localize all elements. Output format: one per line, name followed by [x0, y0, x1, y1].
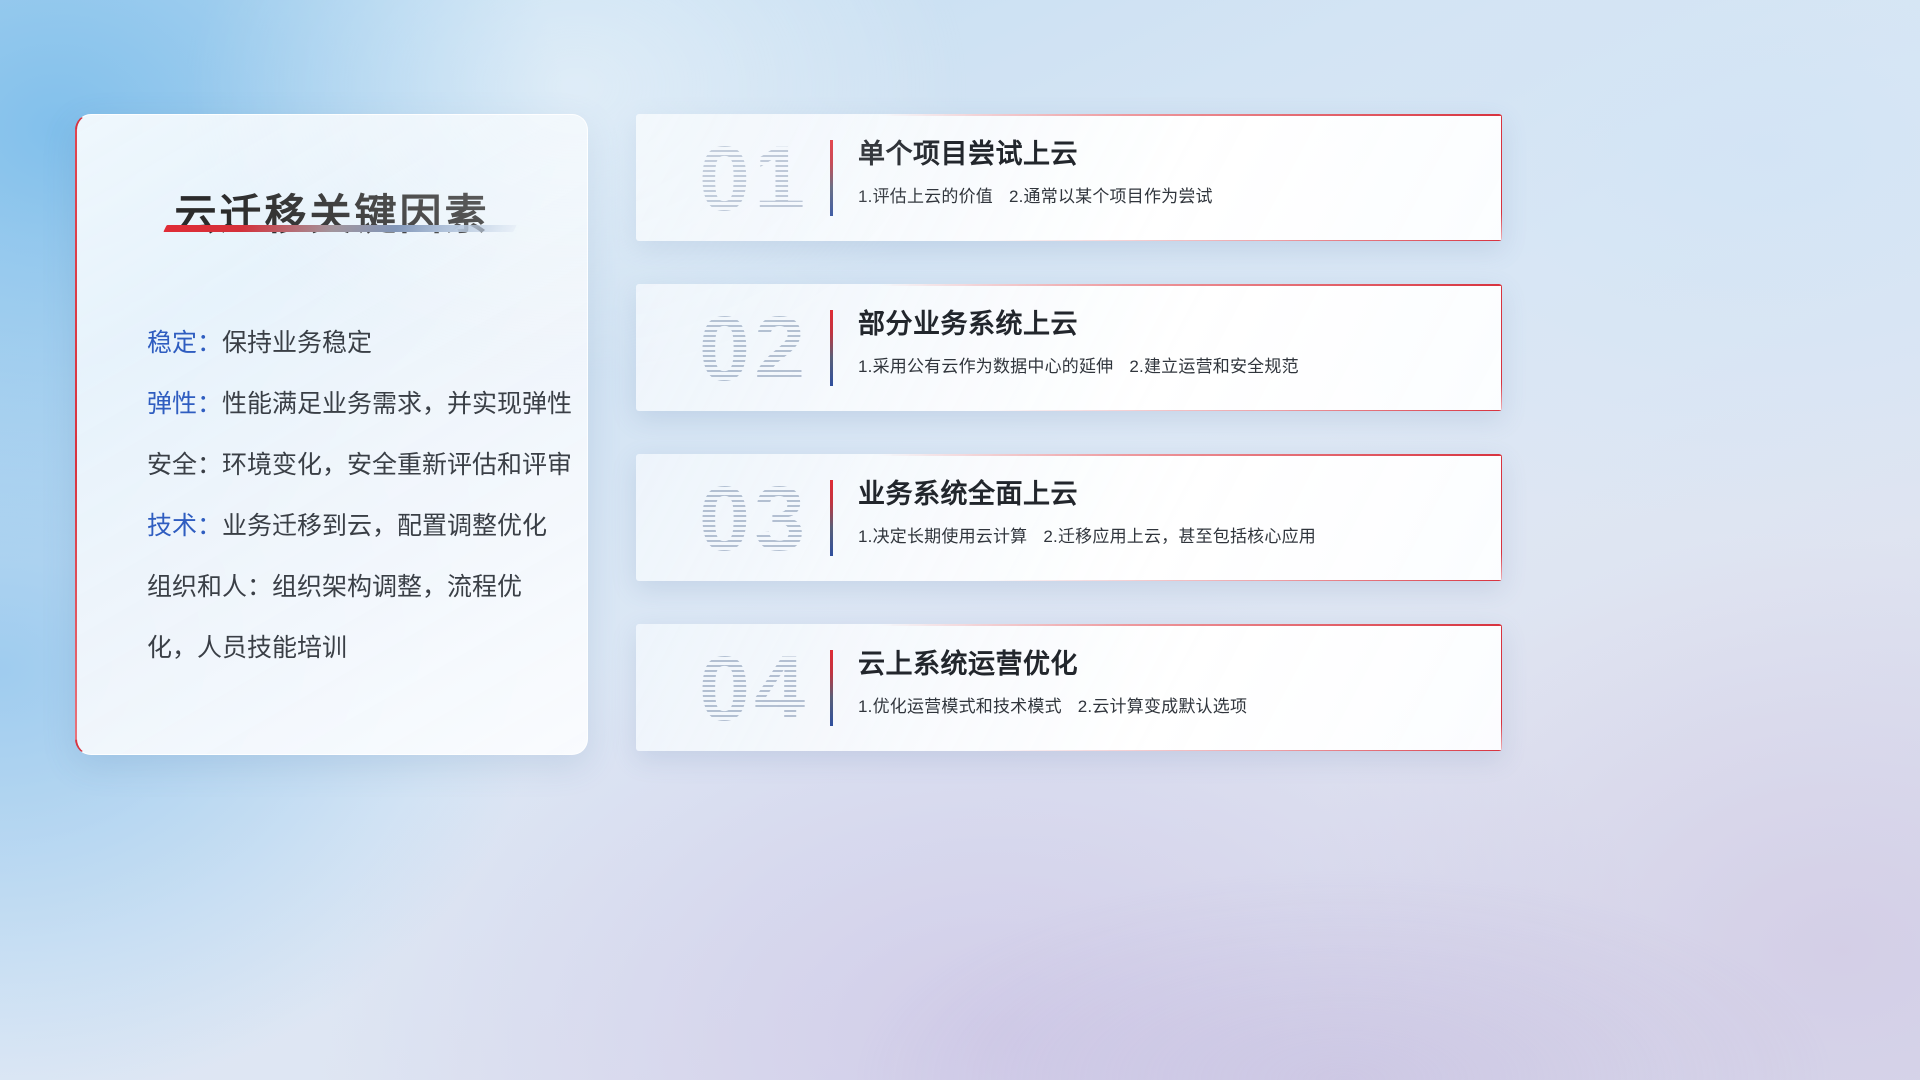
factor-label: 稳定：	[147, 329, 222, 357]
step-number: 01	[664, 120, 844, 238]
step-title: 业务系统全面上云	[858, 472, 1478, 511]
step-title: 云上系统运营优化	[858, 642, 1478, 681]
card-top-accent	[878, 114, 1502, 116]
step-point-2: 2.云计算变成默认选项	[1078, 697, 1247, 716]
key-factors-panel: 云迁移关键因素 稳定：保持业务稳定 弹性：性能满足业务需求，并实现弹性 安全：环…	[75, 114, 588, 755]
step-number: 02	[664, 290, 844, 408]
slide-canvas: 云迁移关键因素 稳定：保持业务稳定 弹性：性能满足业务需求，并实现弹性 安全：环…	[0, 0, 1920, 1080]
page-title: 云迁移关键因素	[77, 181, 587, 242]
card-bottom-accent	[982, 410, 1502, 412]
factor-label: 技术：	[147, 512, 222, 540]
step-card-03[interactable]: 03 业务系统全面上云 1.决定长期使用云计算2.迁移应用上云，甚至包括核心应用	[636, 454, 1502, 581]
step-description: 1.采用公有云作为数据中心的延伸2.建立运营和安全规范	[858, 352, 1478, 377]
step-title: 部分业务系统上云	[858, 302, 1478, 341]
card-bottom-accent	[982, 750, 1502, 752]
factor-text: 环境变化，安全重新评估和评审	[222, 451, 572, 479]
step-body: 单个项目尝试上云 1.评估上云的价值2.通常以某个项目作为尝试	[858, 132, 1478, 207]
step-divider-bar	[830, 480, 833, 556]
factor-text: 业务迁移到云，配置调整优化	[222, 512, 547, 540]
factor-label: 弹性：	[147, 390, 222, 418]
step-body: 云上系统运营优化 1.优化运营模式和技术模式2.云计算变成默认选项	[858, 642, 1478, 717]
list-item: 组织和人：组织架构调整，流程优化，人员技能培训	[147, 557, 553, 679]
factor-text: 保持业务稳定	[222, 329, 372, 357]
step-point-1: 1.评估上云的价值	[858, 187, 993, 206]
step-divider-bar	[830, 310, 833, 386]
card-top-accent	[878, 624, 1502, 626]
card-bottom-accent	[982, 580, 1502, 582]
list-item: 安全：环境变化，安全重新评估和评审	[147, 435, 553, 496]
step-point-2: 2.建立运营和安全规范	[1129, 357, 1298, 376]
card-top-accent	[878, 454, 1502, 456]
step-title: 单个项目尝试上云	[858, 132, 1478, 171]
step-number: 04	[664, 630, 844, 748]
step-divider-bar	[830, 650, 833, 726]
title-underline-rule	[163, 225, 516, 232]
factor-label: 安全：	[147, 451, 222, 479]
step-description: 1.决定长期使用云计算2.迁移应用上云，甚至包括核心应用	[858, 522, 1478, 547]
step-number: 03	[664, 460, 844, 578]
step-body: 部分业务系统上云 1.采用公有云作为数据中心的延伸2.建立运营和安全规范	[858, 302, 1478, 377]
step-card-04[interactable]: 04 云上系统运营优化 1.优化运营模式和技术模式2.云计算变成默认选项	[636, 624, 1502, 751]
step-description: 1.优化运营模式和技术模式2.云计算变成默认选项	[858, 692, 1478, 717]
card-right-accent	[1501, 284, 1503, 411]
list-item: 技术：业务迁移到云，配置调整优化	[147, 496, 553, 557]
step-point-1: 1.决定长期使用云计算	[858, 527, 1027, 546]
key-factors-list: 稳定：保持业务稳定 弹性：性能满足业务需求，并实现弹性 安全：环境变化，安全重新…	[147, 313, 553, 679]
step-card-02[interactable]: 02 部分业务系统上云 1.采用公有云作为数据中心的延伸2.建立运营和安全规范	[636, 284, 1502, 411]
list-item: 稳定：保持业务稳定	[147, 313, 553, 374]
step-divider-bar	[830, 140, 833, 216]
step-description: 1.评估上云的价值2.通常以某个项目作为尝试	[858, 182, 1478, 207]
step-point-2: 2.通常以某个项目作为尝试	[1009, 187, 1213, 206]
list-item: 弹性：性能满足业务需求，并实现弹性	[147, 374, 553, 435]
card-right-accent	[1501, 624, 1503, 751]
card-top-accent	[878, 284, 1502, 286]
card-bottom-accent	[982, 240, 1502, 242]
card-right-accent	[1501, 114, 1503, 241]
factor-label: 组织和人：	[147, 573, 272, 601]
step-card-01[interactable]: 01 单个项目尝试上云 1.评估上云的价值2.通常以某个项目作为尝试	[636, 114, 1502, 241]
migration-steps-list: 01 单个项目尝试上云 1.评估上云的价值2.通常以某个项目作为尝试 02 部分…	[636, 114, 1502, 794]
card-right-accent	[1501, 454, 1503, 581]
step-point-1: 1.优化运营模式和技术模式	[858, 697, 1062, 716]
step-point-1: 1.采用公有云作为数据中心的延伸	[858, 357, 1113, 376]
step-body: 业务系统全面上云 1.决定长期使用云计算2.迁移应用上云，甚至包括核心应用	[858, 472, 1478, 547]
step-point-2: 2.迁移应用上云，甚至包括核心应用	[1043, 527, 1316, 546]
factor-text: 性能满足业务需求，并实现弹性	[222, 390, 572, 418]
